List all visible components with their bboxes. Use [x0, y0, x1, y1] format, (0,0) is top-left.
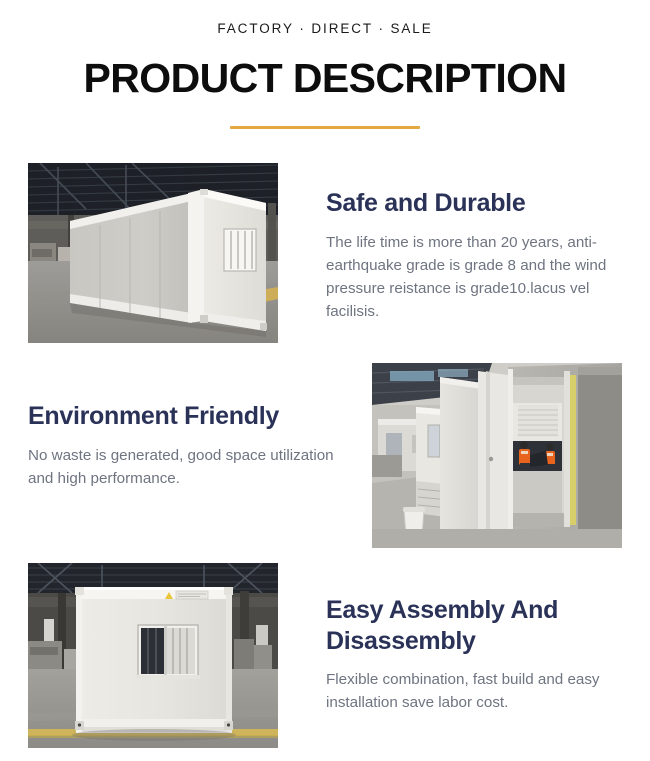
feature-row: Environment Friendly No waste is generat… — [28, 363, 622, 548]
feature-title: Safe and Durable — [326, 188, 622, 219]
feature-body: Flexible combination, fast build and eas… — [326, 668, 622, 714]
container-house-exterior-angled-view — [28, 163, 278, 343]
feature-title: Environment Friendly — [28, 401, 334, 432]
feature-body: The life time is more than 20 years, ant… — [326, 231, 622, 323]
feature-title: Easy Assembly And Disassembly — [326, 595, 622, 656]
feature-body: No waste is generated, good space utiliz… — [28, 444, 334, 490]
title-divider — [230, 126, 420, 129]
feature-text-block: Safe and Durable The life time is more t… — [278, 163, 622, 323]
page-header: FACTORY · DIRECT · SALE PRODUCT DESCRIPT… — [0, 0, 650, 129]
container-house-interior-doorway-workers — [372, 363, 622, 548]
feature-row: Easy Assembly And Disassembly Flexible c… — [28, 563, 622, 748]
container-house-front-view-window — [28, 563, 278, 748]
feature-row: Safe and Durable The life time is more t… — [28, 163, 622, 343]
feature-text-block: Easy Assembly And Disassembly Flexible c… — [278, 563, 622, 714]
eyebrow-text: FACTORY · DIRECT · SALE — [0, 22, 650, 36]
page-title: PRODUCT DESCRIPTION — [0, 58, 650, 99]
feature-text-block: Environment Friendly No waste is generat… — [28, 363, 372, 490]
